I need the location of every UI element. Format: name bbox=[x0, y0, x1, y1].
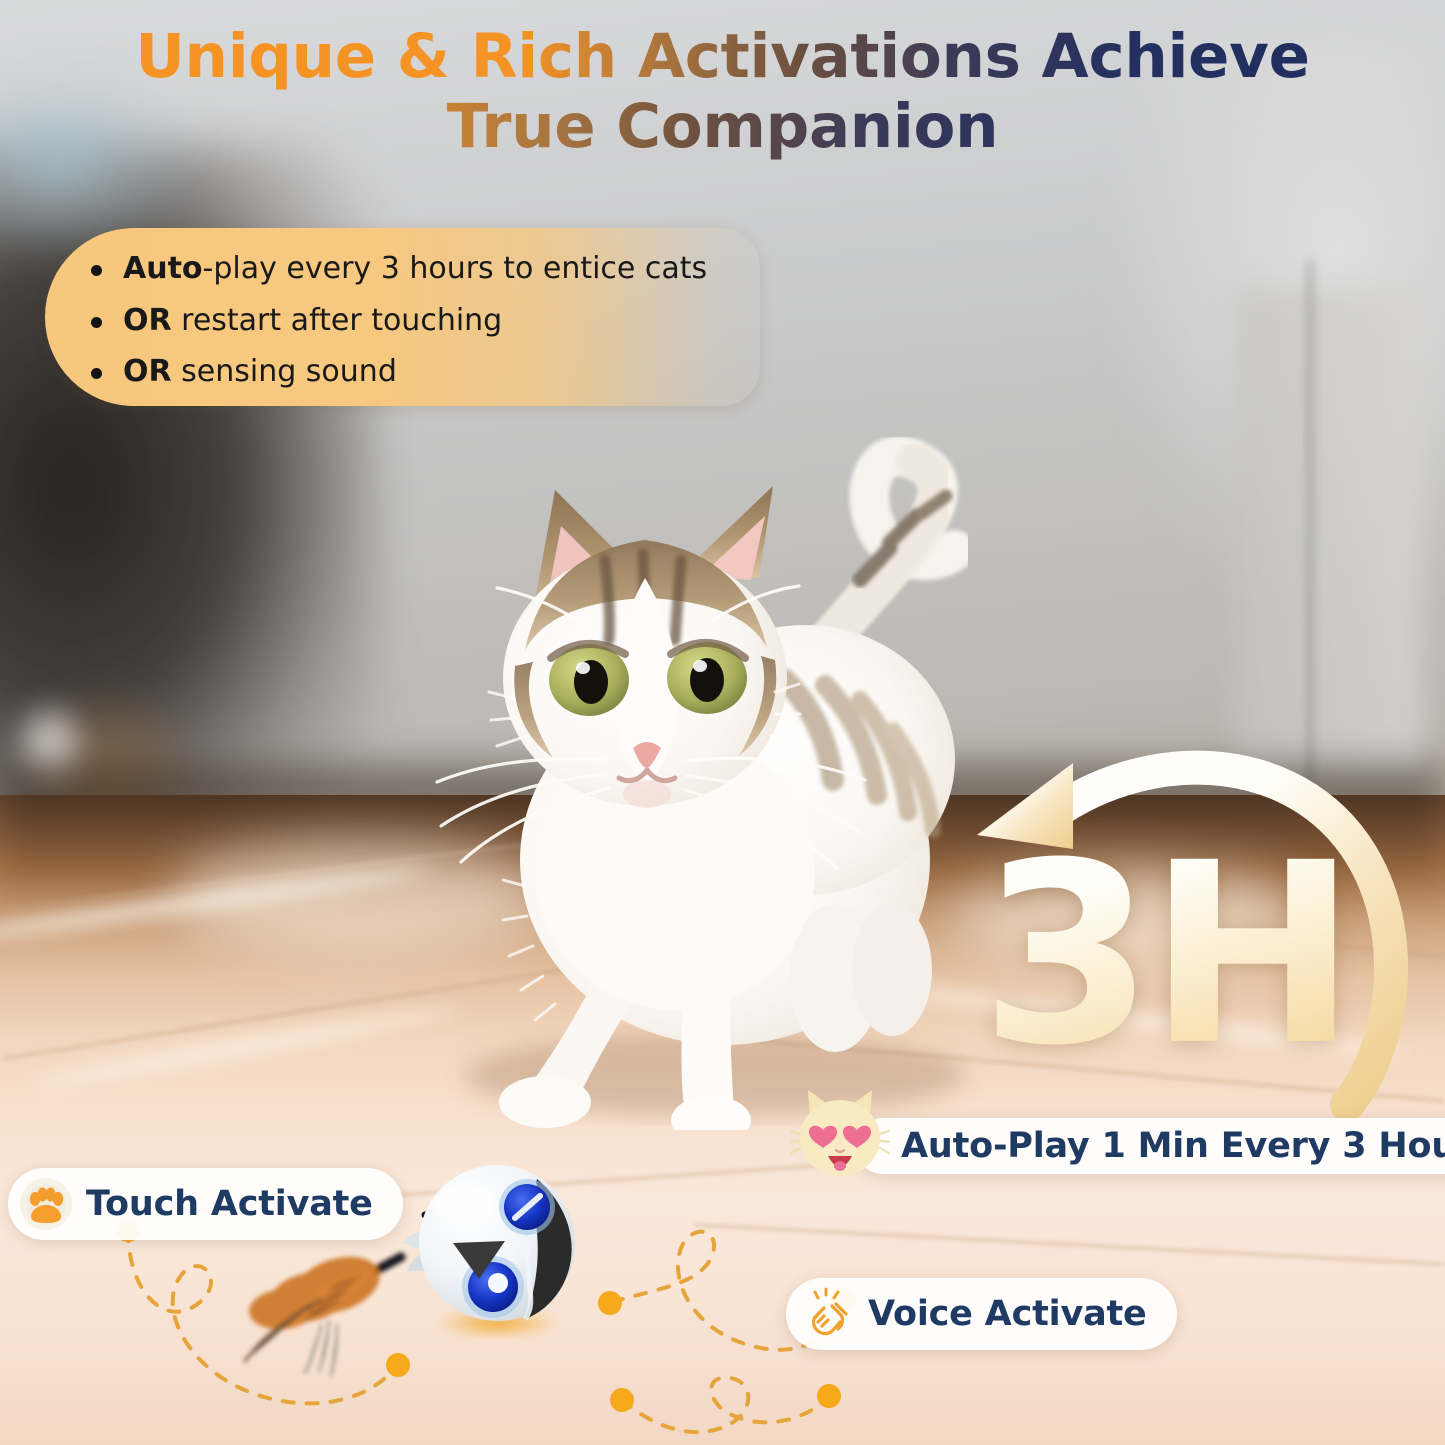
feature-pill-touch-activate[interactable]: Touch Activate bbox=[8, 1168, 403, 1240]
three-hour-badge-text: 3H bbox=[980, 830, 1400, 1130]
bullet-bold: OR bbox=[123, 303, 172, 338]
clapping-hands-icon bbox=[800, 1286, 856, 1342]
headline: Unique & Rich Activations Achieve True C… bbox=[0, 22, 1445, 161]
bullet-rest: -play every 3 hours to entice cats bbox=[203, 251, 708, 286]
feature-bullets-panel: Auto-play every 3 hours to entice cats O… bbox=[45, 228, 760, 406]
bullet-item: Auto-play every 3 hours to entice cats bbox=[89, 252, 760, 286]
headline-line-1: Unique & Rich Activations Achieve bbox=[0, 22, 1445, 92]
radiator bbox=[1235, 289, 1423, 780]
bullet-bold: OR bbox=[123, 354, 172, 389]
feature-pill-label: Auto-Play 1 Min Every 3 Hours bbox=[901, 1126, 1445, 1166]
radiator-edge bbox=[1308, 260, 1312, 809]
bullet-list: Auto-play every 3 hours to entice cats O… bbox=[45, 228, 760, 389]
product-marketing-image: Unique & Rich Activations Achieve True C… bbox=[0, 0, 1445, 1445]
heart-eyes-cat-face-icon bbox=[790, 1086, 890, 1186]
headline-line-2: True Companion bbox=[0, 92, 1445, 162]
feature-pill-voice-activate[interactable]: Voice Activate bbox=[786, 1278, 1177, 1350]
bullet-bold: Auto bbox=[123, 251, 203, 286]
bullet-item: OR sensing sound bbox=[89, 355, 760, 389]
bullet-rest: restart after touching bbox=[172, 303, 503, 338]
bullet-rest: sensing sound bbox=[172, 354, 397, 389]
feature-pill-auto-play[interactable]: Auto-Play 1 Min Every 3 Hours bbox=[855, 1118, 1445, 1174]
cat-toy-ball bbox=[385, 1155, 605, 1340]
bullet-item: OR restart after touching bbox=[89, 304, 760, 338]
feature-pill-label: Voice Activate bbox=[868, 1294, 1147, 1334]
paw-print-icon bbox=[18, 1176, 74, 1232]
feature-pill-label: Touch Activate bbox=[86, 1184, 373, 1224]
